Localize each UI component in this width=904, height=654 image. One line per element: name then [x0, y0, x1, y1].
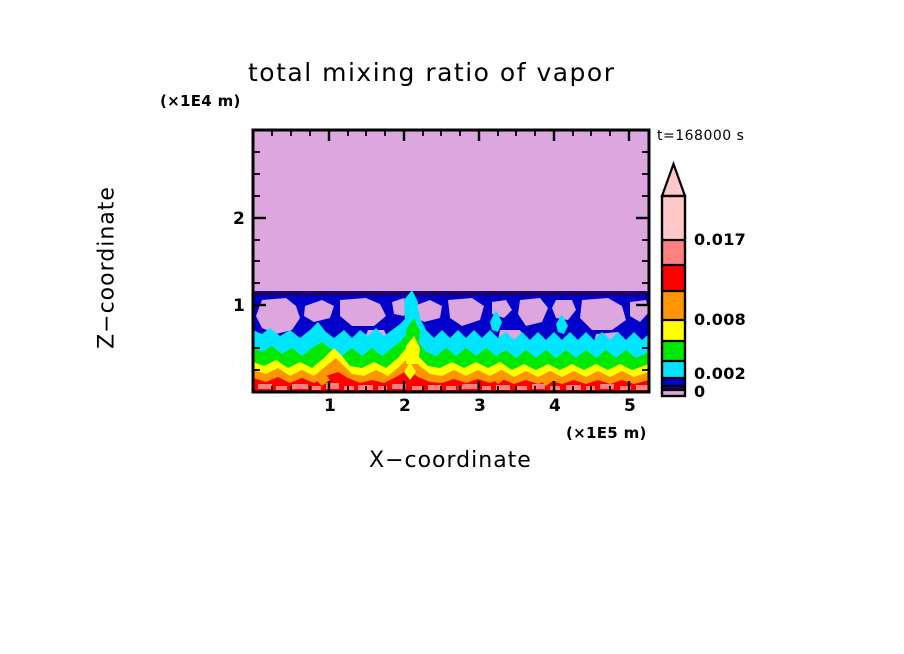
- colorbar-tick-label-0002: 0.002: [694, 364, 746, 383]
- colorbar: [662, 164, 685, 396]
- x-tick-label-2: 2: [399, 396, 411, 416]
- colorbar-swatch-cyan: [662, 361, 685, 378]
- y-tick-label-1: 1: [233, 296, 245, 316]
- colorbar-tick-label-0: 0: [694, 382, 705, 401]
- colorbar-tick-label-0008: 0.008: [694, 310, 746, 329]
- colorbar-extend-arrow: [662, 164, 685, 196]
- x-tick-label-4: 4: [549, 396, 561, 416]
- x-tick-label-5: 5: [624, 396, 636, 416]
- colorbar-swatch-green: [662, 341, 685, 361]
- contour-plot-svg: [0, 0, 904, 654]
- colorbar-swatch-blue: [662, 378, 685, 386]
- y-tick-label-2: 2: [233, 209, 245, 229]
- figure-canvas: total mixing ratio of vapor (×1E4 m) t=1…: [0, 0, 904, 654]
- colorbar-swatch-yellow: [662, 320, 685, 341]
- colorbar-swatch-pale-pink: [662, 196, 685, 240]
- colorbar-swatch-orange: [662, 291, 685, 320]
- x-tick-label-3: 3: [474, 396, 486, 416]
- colorbar-swatch-red: [662, 265, 685, 291]
- contour-band-navy: [253, 291, 649, 296]
- colorbar-swatch-salmon: [662, 240, 685, 265]
- x-tick-label-1: 1: [324, 396, 336, 416]
- colorbar-tick-label-0017: 0.017: [694, 230, 746, 249]
- contour-field: [253, 130, 649, 392]
